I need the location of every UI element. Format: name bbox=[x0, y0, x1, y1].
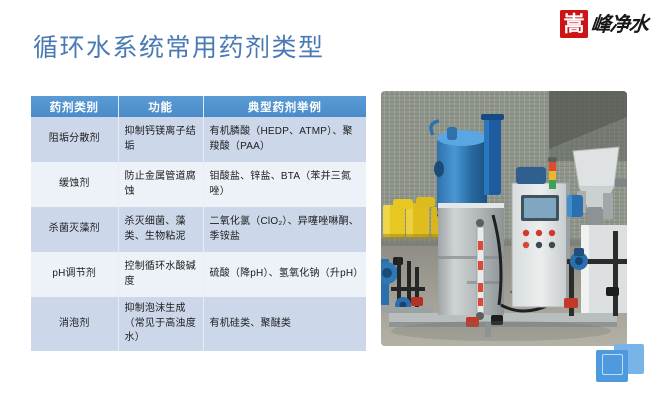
photo-illustration bbox=[381, 91, 627, 346]
cell-category: 缓蚀剂 bbox=[31, 162, 118, 207]
brand-wordmark: 峰净水 bbox=[590, 14, 649, 34]
decorative-square-inner bbox=[602, 354, 623, 375]
brand-logo: 嵩 峰净水 bbox=[560, 8, 648, 40]
table-header-row: 药剂类别 功能 典型药剂举例 bbox=[31, 96, 366, 117]
cell-examples: 二氧化氯（ClO₂）、异噻唑啉酮、季铵盐 bbox=[203, 207, 366, 252]
decorative-square-front bbox=[596, 350, 628, 382]
seal-stamp-icon: 嵩 bbox=[560, 10, 588, 38]
cell-function: 防止金属管道腐蚀 bbox=[118, 162, 203, 207]
cell-category: 消泡剂 bbox=[31, 297, 118, 351]
column-header-examples: 典型药剂举例 bbox=[203, 96, 366, 117]
level-gauge bbox=[476, 219, 484, 320]
cell-category: 杀菌灭藻剂 bbox=[31, 207, 118, 252]
table-row: 杀菌灭藻剂 杀灭细菌、藻类、生物粘泥 二氧化氯（ClO₂）、异噻唑啉酮、季铵盐 bbox=[31, 207, 366, 252]
cell-category: pH调节剂 bbox=[31, 252, 118, 297]
cell-examples: 硫酸（降pH）、氢氧化钠（升pH） bbox=[203, 252, 366, 297]
table-row: 消泡剂 抑制泡沫生成（常见于高浊度水） 有机硅类、聚醚类 bbox=[31, 297, 366, 351]
cell-function: 抑制钙镁离子结垢 bbox=[118, 117, 203, 162]
dosing-equipment-photo bbox=[381, 91, 627, 346]
table-row: 缓蚀剂 防止金属管道腐蚀 钼酸盐、锌盐、BTA（苯并三氮唑） bbox=[31, 162, 366, 207]
control-cabinet bbox=[512, 183, 570, 307]
decorative-squares bbox=[596, 342, 644, 382]
chemical-types-table-container: 药剂类别 功能 典型药剂举例 阻垢分散剂 抑制钙镁离子结垢 有机膦酸（HEDP、… bbox=[31, 96, 366, 351]
cell-examples: 有机膦酸（HEDP、ATMP）、聚羧酸（PAA） bbox=[203, 117, 366, 162]
cell-category: 阻垢分散剂 bbox=[31, 117, 118, 162]
chemical-types-table: 药剂类别 功能 典型药剂举例 阻垢分散剂 抑制钙镁离子结垢 有机膦酸（HEDP、… bbox=[31, 96, 366, 351]
cell-function: 抑制泡沫生成（常见于高浊度水） bbox=[118, 297, 203, 351]
cell-examples: 钼酸盐、锌盐、BTA（苯并三氮唑） bbox=[203, 162, 366, 207]
cell-examples: 有机硅类、聚醚类 bbox=[203, 297, 366, 351]
cell-function: 控制循环水酸碱度 bbox=[118, 252, 203, 297]
cell-function: 杀灭细菌、藻类、生物粘泥 bbox=[118, 207, 203, 252]
table-row: pH调节剂 控制循环水酸碱度 硫酸（降pH）、氢氧化钠（升pH） bbox=[31, 252, 366, 297]
column-header-category: 药剂类别 bbox=[31, 96, 118, 117]
column-header-function: 功能 bbox=[118, 96, 203, 117]
page-title: 循环水系统常用药剂类型 bbox=[33, 28, 325, 64]
table-row: 阻垢分散剂 抑制钙镁离子结垢 有机膦酸（HEDP、ATMP）、聚羧酸（PAA） bbox=[31, 117, 366, 162]
